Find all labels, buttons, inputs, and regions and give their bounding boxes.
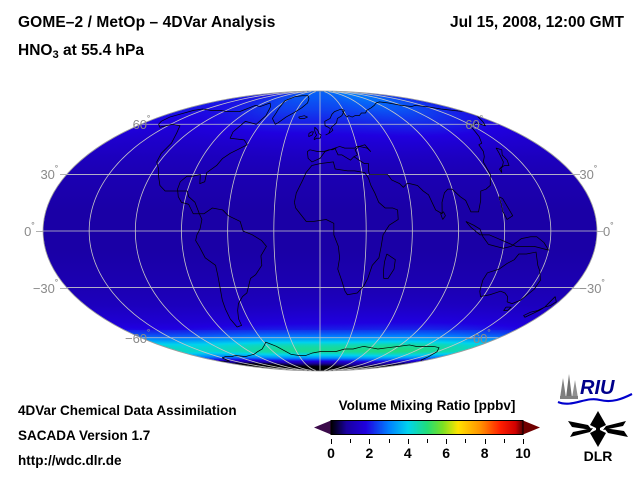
colorbar-minor-tick — [504, 439, 505, 443]
colorbar-tick-label: 0 — [327, 445, 335, 461]
latitude-tick — [573, 174, 580, 175]
colorbar-tick-label: 4 — [404, 445, 412, 461]
figure-root: GOME–2 / MetOp – 4DVar Analysis HNO3 at … — [0, 0, 640, 480]
latitude-label: 0˚ — [603, 222, 614, 239]
riu-wordmark: RIU — [580, 377, 615, 399]
colorbar-minor-tick — [350, 439, 351, 443]
latitude-tick — [60, 174, 67, 175]
colorbar-minor-tick — [465, 439, 466, 443]
latitude-label: −60˚ — [0, 329, 151, 346]
dlr-wordmark: DLR — [584, 448, 613, 463]
colorbar-title: Volume Mixing Ratio [ppbv] — [313, 398, 541, 413]
species-name: HNO — [18, 42, 52, 59]
colorbar-tick-labels: 0246810 — [331, 445, 523, 463]
page-title: GOME–2 / MetOp – 4DVar Analysis — [18, 14, 276, 32]
colorbar-tick — [369, 439, 370, 444]
colorbar-tick — [523, 439, 524, 444]
riu-spikes-icon — [560, 374, 578, 399]
latitude-label: −30˚ — [579, 279, 605, 296]
latitude-label: 30˚ — [579, 165, 597, 182]
colorbar-tick — [331, 439, 332, 444]
colorbar-tick-label: 6 — [442, 445, 450, 461]
latitude-label: 60˚ — [0, 115, 151, 132]
latitude-label: 60˚ — [465, 115, 483, 132]
dlr-pinwheel-icon — [568, 411, 628, 447]
colorbar: Volume Mixing Ratio [ppbv] 0246810 — [313, 398, 541, 463]
colorbar-tick-label: 8 — [481, 445, 489, 461]
colorbar-tick — [485, 439, 486, 444]
colorbar-gradient — [313, 419, 541, 439]
colorbar-tick — [408, 439, 409, 444]
footer-url: http://wdc.dlr.de — [18, 453, 122, 468]
colorbar-tick-label: 2 — [365, 445, 373, 461]
latitude-tick — [573, 288, 580, 289]
footer-line-1: 4DVar Chemical Data Assimilation — [18, 403, 237, 418]
latitude-label: −30˚ — [0, 279, 59, 296]
species-level: at 55.4 hPa — [59, 42, 144, 59]
timestamp: Jul 15, 2008, 12:00 GMT — [450, 14, 624, 32]
latitude-tick — [36, 231, 43, 232]
colorbar-tick-label: 10 — [515, 445, 531, 461]
latitude-label: −60˚ — [465, 329, 491, 346]
colorbar-canvas — [313, 419, 541, 439]
riu-logo: RIU — [556, 372, 634, 406]
colorbar-minor-tick — [427, 439, 428, 443]
latitude-label: 30˚ — [0, 165, 59, 182]
dlr-logo: DLR — [562, 409, 634, 463]
colorbar-minor-tick — [389, 439, 390, 443]
latitude-tick — [597, 231, 604, 232]
colorbar-tick — [446, 439, 447, 444]
footer-line-2: SACADA Version 1.7 — [18, 428, 150, 443]
species-subtitle: HNO3 at 55.4 hPa — [18, 42, 144, 61]
latitude-label: 0˚ — [0, 222, 35, 239]
latitude-tick — [60, 288, 67, 289]
